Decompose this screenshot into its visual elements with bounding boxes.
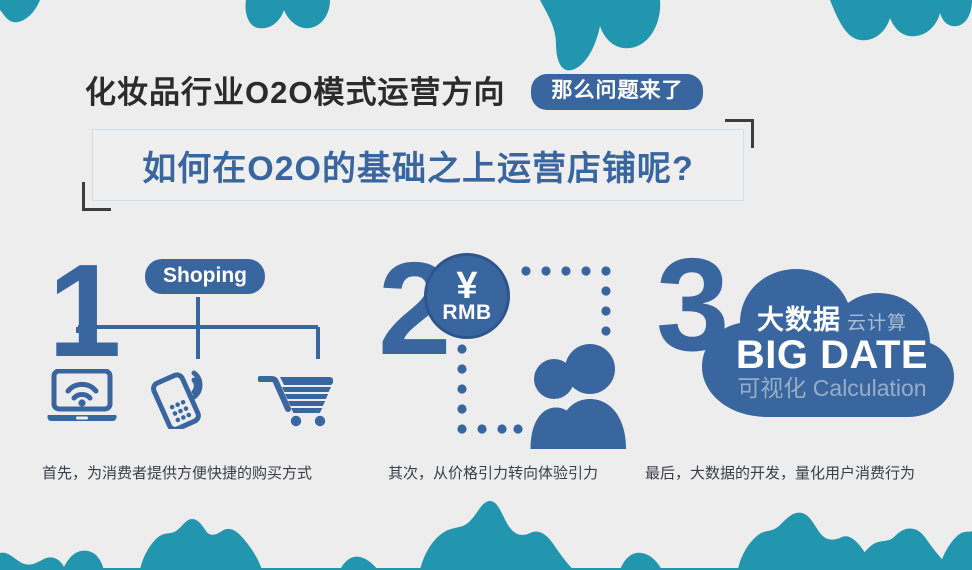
corner-bracket-top-right — [725, 119, 754, 148]
section-1-icons — [46, 367, 376, 437]
teal-cloud-wave-bottom — [0, 475, 972, 570]
cloud-text-block: 大数据 云计算 BIG DATE 可视化 Calculation — [716, 307, 948, 400]
big-date-label: BIG DATE — [716, 335, 948, 376]
section-1-caption: 首先，为消费者提供方便快捷的购买方式 — [42, 462, 312, 483]
visualization-calculation-label: 可视化 Calculation — [716, 376, 948, 400]
branch-connector — [48, 297, 338, 359]
teal-cloud-wave-top — [0, 0, 972, 80]
section-1: 1 Shoping — [28, 245, 373, 450]
infographic-canvas: 化妆品行业O2O模式运营方向 那么问题来了 如何在O2O的基础之上运营店铺呢? … — [0, 0, 972, 570]
page-title: 化妆品行业O2O模式运营方向 — [85, 77, 505, 108]
shopping-cart-icon — [258, 373, 334, 427]
big-data-cn-label: 大数据 — [757, 305, 841, 335]
shoping-pill: Shoping — [145, 259, 265, 294]
cloud-computing-cn-label: 云计算 — [847, 313, 907, 334]
corner-bracket-bottom-left — [82, 182, 111, 211]
subtitle-text: 如何在O2O的基础之上运营店铺呢? — [92, 129, 744, 201]
mobile-signal-icon — [150, 367, 216, 429]
users-group-icon — [526, 337, 632, 449]
section-3-caption: 最后，大数据的开发，量化用户消费行为 — [645, 462, 915, 483]
section-2-caption: 其次，从价格引力转向体验引力 — [388, 462, 598, 483]
laptop-wifi-icon — [46, 369, 118, 425]
headline-row: 化妆品行业O2O模式运营方向 那么问题来了 — [85, 74, 703, 110]
subtitle-container: 如何在O2O的基础之上运营店铺呢? — [92, 129, 744, 201]
section-3: 3 大数据 云计算 BIG DATE 可视化 Calculation — [648, 245, 958, 450]
question-badge: 那么问题来了 — [531, 74, 703, 110]
section-2: 2 ¥ RMB — [378, 245, 638, 450]
